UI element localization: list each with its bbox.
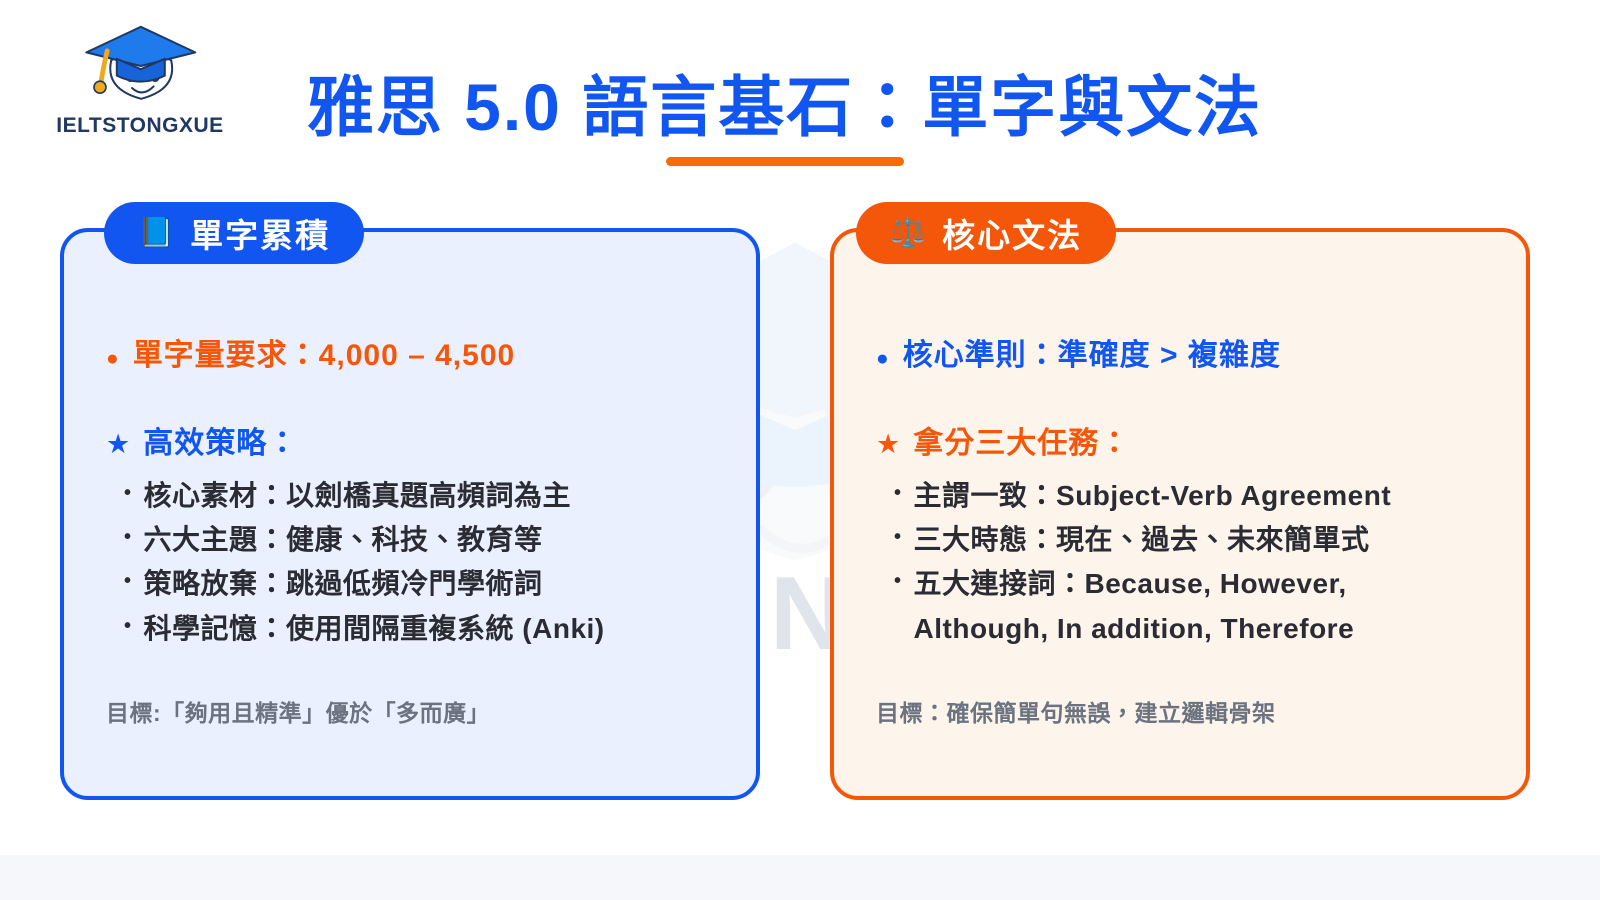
card-grammar: ⚖️ 核心文法 ● 核心準則：準確度 > 複雜度 ★ 拿分三大任務： • 主謂一… <box>830 228 1530 800</box>
graduation-cap-mascot-icon <box>80 22 200 110</box>
grammar-bullet-list: • 主謂一致：Subject-Verb Agreement • 三大時態：現在、… <box>876 474 1496 651</box>
vocabulary-section-label: 高效策略： <box>143 418 298 462</box>
bullet-dot-icon: ● <box>876 348 890 369</box>
vocabulary-section-heading: ★ 高效策略： <box>106 418 726 462</box>
list-bullet-icon: • <box>124 474 132 512</box>
list-item-text: 六大主題：健康、科技、教育等 <box>144 518 543 562</box>
vocabulary-headline-text: 單字量要求：4,000 – 4,500 <box>133 330 516 374</box>
list-item: • 主謂一致：Subject-Verb Agreement <box>894 474 1496 518</box>
bullet-dot-icon: ● <box>106 348 120 369</box>
list-item-text: 核心素材：以劍橋真題高頻詞為主 <box>144 474 572 518</box>
list-item-text: 三大時態：現在、過去、未來簡單式 <box>914 518 1370 562</box>
page-title: 雅思 5.0 語言基石：單字與文法 <box>270 74 1300 141</box>
star-icon: ★ <box>876 431 901 458</box>
list-item-text: 策略放棄：跳過低頻冷門學術詞 <box>144 562 543 606</box>
list-item-text: 科學記憶：使用間隔重複系統 (Anki) <box>144 607 605 651</box>
grammar-goal-note: 目標：確保簡單句無誤，建立邏輯骨架 <box>876 694 1276 728</box>
list-item-text: 五大連接詞：Because, However, Although, In add… <box>914 562 1355 650</box>
bottom-strip <box>0 855 1600 900</box>
list-item: • 五大連接詞：Because, However, Although, In a… <box>894 562 1496 650</box>
star-icon: ★ <box>106 431 131 458</box>
list-item: • 科學記憶：使用間隔重複系統 (Anki) <box>124 607 726 651</box>
grammar-section-heading: ★ 拿分三大任務： <box>876 418 1496 462</box>
logo-brand-text: IELTSTONGXUE <box>40 114 240 138</box>
list-item-text: 主謂一致：Subject-Verb Agreement <box>914 474 1392 518</box>
card-vocabulary: 📘 單字累積 ● 單字量要求：4,000 – 4,500 ★ 高效策略： • 核… <box>60 228 760 800</box>
title-underline <box>666 157 904 166</box>
vocabulary-headline: ● 單字量要求：4,000 – 4,500 <box>106 330 726 374</box>
grammar-headline-text: 核心準則：準確度 > 複雜度 <box>903 330 1281 374</box>
list-bullet-icon: • <box>894 518 902 556</box>
list-item: • 三大時態：現在、過去、未來簡單式 <box>894 518 1496 562</box>
vocabulary-bullet-list: • 核心素材：以劍橋真題高頻詞為主 • 六大主題：健康、科技、教育等 • 策略放… <box>106 474 726 651</box>
site-logo: IELTSTONGXUE <box>40 22 240 138</box>
grammar-section-label: 拿分三大任務： <box>913 418 1130 462</box>
list-item: • 核心素材：以劍橋真題高頻詞為主 <box>124 474 726 518</box>
page-title-block: 雅思 5.0 語言基石：單字與文法 <box>270 74 1300 166</box>
list-bullet-icon: • <box>894 474 902 512</box>
grammar-headline: ● 核心準則：準確度 > 複雜度 <box>876 330 1496 374</box>
vocabulary-goal-note: 目標:「夠用且精準」優於「多而廣」 <box>106 694 490 728</box>
list-bullet-icon: • <box>124 607 132 645</box>
list-bullet-icon: • <box>124 562 132 600</box>
list-bullet-icon: • <box>124 518 132 556</box>
list-item: • 策略放棄：跳過低頻冷門學術詞 <box>124 562 726 606</box>
list-item: • 六大主題：健康、科技、教育等 <box>124 518 726 562</box>
list-bullet-icon: • <box>894 562 902 600</box>
